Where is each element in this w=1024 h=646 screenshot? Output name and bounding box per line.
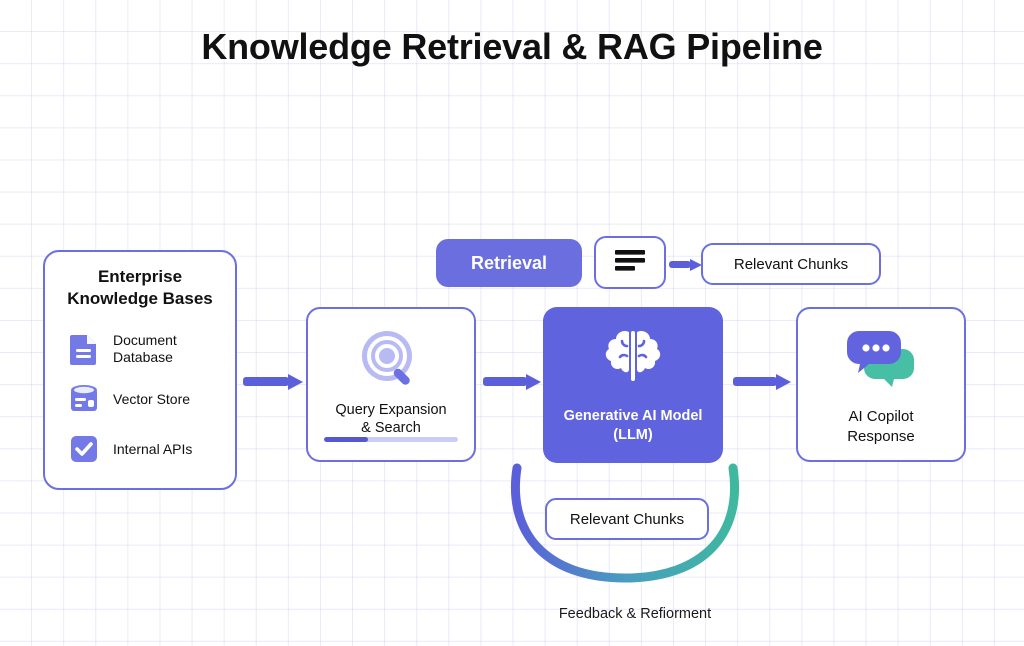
list-item-document-database[interactable]: Document Database xyxy=(45,324,235,374)
list-item-label: Document Database xyxy=(113,332,177,366)
arrow-kb-to-query xyxy=(243,374,303,388)
knowledge-panel-title: Enterprise Knowledge Bases xyxy=(45,266,235,310)
query-progress-bar xyxy=(324,437,458,442)
query-expansion-search-card[interactable]: Query Expansion & Search xyxy=(306,307,476,462)
chat-bubbles-icon xyxy=(845,327,917,394)
copilot-card-label: AI Copilot Response xyxy=(798,407,964,447)
query-card-label: Query Expansion & Search xyxy=(308,401,474,437)
arrow-query-to-llm xyxy=(483,374,541,388)
relevant-chunks-top-box[interactable]: Relevant Chunks xyxy=(701,243,881,285)
page-title: Knowledge Retrieval & RAG Pipeline xyxy=(0,26,1024,68)
brain-icon xyxy=(602,327,664,390)
knowledge-panel-title-line2: Knowledge Bases xyxy=(55,288,225,310)
ai-copilot-response-card[interactable]: AI Copilot Response xyxy=(796,307,966,462)
check-square-icon xyxy=(69,433,99,465)
list-item-internal-apis[interactable]: Internal APIs xyxy=(45,424,235,474)
retrieval-lines-card[interactable] xyxy=(594,236,666,289)
relevant-chunks-loop-box[interactable]: Relevant Chunks xyxy=(545,498,709,540)
list-lines-icon xyxy=(613,248,647,277)
label-line2: Response xyxy=(798,427,964,447)
knowledge-source-list: Document Database Vector Store xyxy=(45,324,235,474)
label-line1: Generative AI Model xyxy=(543,407,723,426)
retrieval-pill[interactable]: Retrieval xyxy=(436,239,582,287)
document-icon xyxy=(69,333,99,365)
label-line2: & Search xyxy=(308,419,474,437)
query-progress-fill xyxy=(324,437,368,442)
database-icon xyxy=(69,383,99,415)
list-item-vector-store[interactable]: Vector Store xyxy=(45,374,235,424)
label-line1: Query Expansion xyxy=(308,401,474,419)
llm-card-label: Generative AI Model (LLM) xyxy=(543,407,723,445)
feedback-loop-caption: Feedback & Refiorment xyxy=(460,606,810,622)
label-line1: AI Copilot xyxy=(798,407,964,427)
magnifier-icon xyxy=(358,327,424,398)
arrow-lines-to-chunks xyxy=(669,257,703,271)
label-line2: Database xyxy=(113,349,177,366)
list-item-label: Internal APIs xyxy=(113,441,192,458)
knowledge-panel-title-line1: Enterprise xyxy=(55,266,225,288)
label-line2: (LLM) xyxy=(543,426,723,445)
generative-ai-model-card[interactable]: Generative AI Model (LLM) xyxy=(543,307,723,463)
list-item-label: Vector Store xyxy=(113,391,190,408)
arrow-llm-to-copilot xyxy=(733,374,791,388)
label-line1: Document xyxy=(113,332,177,349)
enterprise-knowledge-bases-panel: Enterprise Knowledge Bases Document Data… xyxy=(43,250,237,490)
